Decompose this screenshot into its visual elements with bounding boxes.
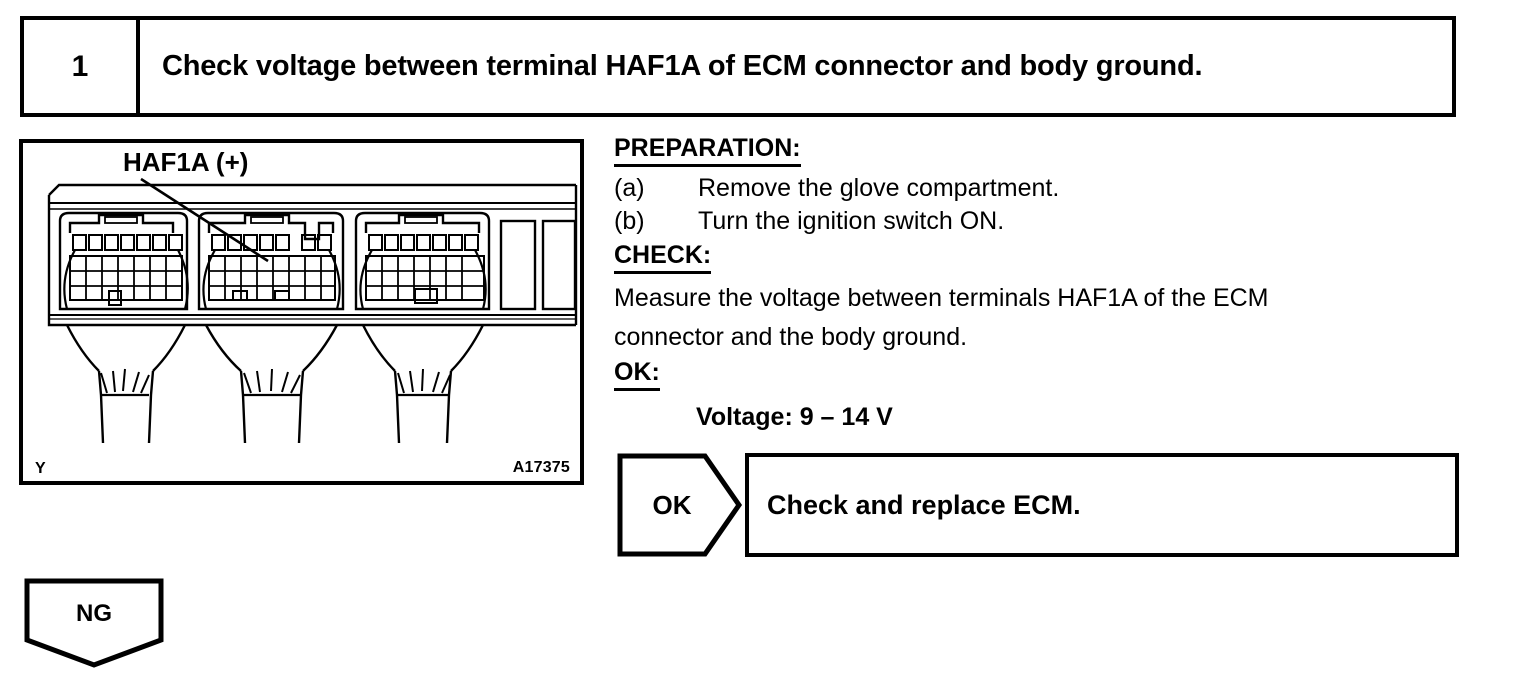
empty-bay-2 bbox=[543, 221, 575, 309]
ok-heading: OK: bbox=[614, 360, 660, 391]
step-header-bar: 1 Check voltage between terminal HAF1A o… bbox=[20, 16, 1456, 117]
ok-result-row: OK Check and replace ECM. bbox=[617, 453, 1459, 557]
procedure-column: PREPARATION: (a) Remove the glove compar… bbox=[614, 136, 1462, 431]
step-marker: (a) bbox=[614, 172, 698, 204]
check-heading: CHECK: bbox=[614, 243, 711, 274]
ok-result-action: Check and replace ECM. bbox=[767, 490, 1081, 521]
illustration-code-right: A17375 bbox=[513, 460, 570, 476]
ok-result-box: Check and replace ECM. bbox=[745, 453, 1459, 557]
illustration-panel: HAF1A (+) Y A17375 bbox=[19, 139, 584, 485]
step-number: 1 bbox=[72, 50, 89, 84]
ng-branch-marker: NG bbox=[24, 578, 164, 668]
preparation-step-b: (b) Turn the ignition switch ON. bbox=[614, 205, 1462, 237]
ok-spec-section: OK: Voltage: 9 – 14 V bbox=[614, 360, 1462, 432]
step-title: Check voltage between terminal HAF1A of … bbox=[162, 51, 1202, 83]
step-number-cell: 1 bbox=[24, 20, 140, 113]
step-marker: (b) bbox=[614, 205, 698, 237]
connector-2 bbox=[199, 213, 343, 443]
ecm-connector-illustration: HAF1A (+) bbox=[23, 143, 580, 481]
connector-1 bbox=[60, 213, 188, 443]
callout-label: HAF1A (+) bbox=[123, 147, 248, 177]
connector-3 bbox=[356, 213, 489, 443]
check-line-2: connector and the body ground. bbox=[614, 318, 1460, 357]
preparation-step-a: (a) Remove the glove compartment. bbox=[614, 172, 1462, 204]
step-text: Remove the glove compartment. bbox=[698, 172, 1462, 204]
voltage-specification: Voltage: 9 – 14 V bbox=[696, 404, 1462, 432]
check-section: CHECK: Measure the voltage between termi… bbox=[614, 243, 1462, 358]
check-line-1: Measure the voltage between terminals HA… bbox=[614, 279, 1460, 318]
check-body: Measure the voltage between terminals HA… bbox=[614, 279, 1460, 358]
step-title-cell: Check voltage between terminal HAF1A of … bbox=[140, 20, 1452, 113]
ok-branch-label: OK bbox=[617, 453, 727, 557]
ng-branch-label: NG bbox=[24, 578, 164, 650]
preparation-heading: PREPARATION: bbox=[614, 136, 801, 167]
callout-leader-line bbox=[141, 179, 268, 261]
preparation-section: PREPARATION: (a) Remove the glove compar… bbox=[614, 136, 1462, 237]
illustration-code-left: Y bbox=[35, 461, 46, 477]
step-text: Turn the ignition switch ON. bbox=[698, 205, 1462, 237]
ok-branch-arrow: OK bbox=[617, 453, 747, 557]
empty-bay-1 bbox=[501, 221, 535, 309]
